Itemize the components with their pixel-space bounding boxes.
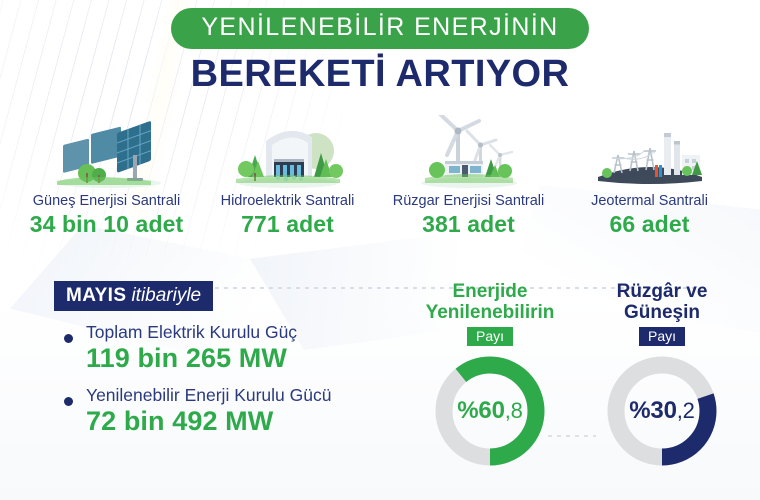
donut-chart-group: Enerjide Yenilenebilirin Payı %60,8 Rüzg… [404,281,760,470]
facility-label: Jeotermal Santrali [559,193,740,210]
facility-label: Rüzgar Enerjisi Santrali [378,193,559,210]
facility-card-solar: Güneş Enerjisi Santrali 34 bin 10 adet [16,111,197,237]
donut-center-value: %60,8 [431,352,549,470]
donut-title: Rüzgâr ve Güneşin [580,281,745,324]
facility-card-geothermal: Jeotermal Santrali 66 adet [559,111,740,237]
donut-chart-wind-solar-share: Rüzgâr ve Güneşin Payı %30,2 [580,281,745,470]
donut-value-fraction: ,8 [505,398,523,424]
donut-title-line2: Güneşin [580,302,745,323]
geothermal-plant-icon [559,111,740,189]
facility-card-list: Güneş Enerjisi Santrali 34 bin 10 adet [0,95,760,237]
donut-center-value: %30,2 [603,352,721,470]
summary-stat-list: Toplam Elektrik Kurulu Güç 119 bin 265 M… [54,322,404,438]
facility-count: 771 adet [197,211,378,237]
stat-value: 119 bin 265 MW [86,343,404,375]
month-badge-suffix: itibariyle [131,285,201,306]
facility-card-wind: Rüzgar Enerjisi Santrali 381 adet [378,111,559,237]
donut-value-main: %30 [629,397,676,425]
share-badge: Payı [639,327,685,347]
facility-count: 381 adet [378,211,559,237]
donut-title-line2: Yenilenebilirin [408,302,573,323]
facility-card-hydroelectric: Hidroelektrik Santrali 771 adet [197,111,378,237]
stat-value: 72 bin 492 MW [86,406,404,438]
wind-turbine-icon [378,111,559,189]
donut-title-line1: Enerjide [408,281,573,302]
month-badge: MAYISitibariyle [54,281,213,311]
solar-panel-icon [16,111,197,189]
donut-title: Enerjide Yenilenebilirin [408,281,573,324]
share-badge: Payı [467,327,513,347]
facility-count: 34 bin 10 adet [16,211,197,237]
monthly-summary-panel: MAYISitibariyle Toplam Elektrik Kurulu G… [0,281,404,470]
summary-and-charts: MAYISitibariyle Toplam Elektrik Kurulu G… [0,281,760,470]
list-item: Toplam Elektrik Kurulu Güç 119 bin 265 M… [54,322,404,375]
facility-label: Güneş Enerjisi Santrali [16,193,197,210]
facility-label: Hidroelektrik Santrali [197,193,378,210]
donut-chart-renewable-share: Enerjide Yenilenebilirin Payı %60,8 [408,281,573,470]
list-item: Yenilenebilir Enerji Kurulu Gücü 72 bin … [54,385,404,438]
facility-count: 66 adet [559,211,740,237]
donut-graphic: %60,8 [431,352,549,470]
page-header: YENİLENEBİLİR ENERJİNİN BEREKETİ ARTIYOR [0,0,760,95]
donut-value-fraction: ,2 [677,398,695,424]
month-badge-month: MAYIS [66,285,126,306]
donut-graphic: %30,2 [603,352,721,470]
page-title: BEREKETİ ARTIYOR [0,55,760,95]
donut-title-line1: Rüzgâr ve [580,281,745,302]
hydroelectric-icon [197,111,378,189]
stat-label: Toplam Elektrik Kurulu Güç [86,322,404,343]
stat-label: Yenilenebilir Enerji Kurulu Gücü [86,385,404,406]
donut-value-main: %60 [457,397,504,425]
header-pill-label: YENİLENEBİLİR ENERJİNİN [171,8,588,49]
